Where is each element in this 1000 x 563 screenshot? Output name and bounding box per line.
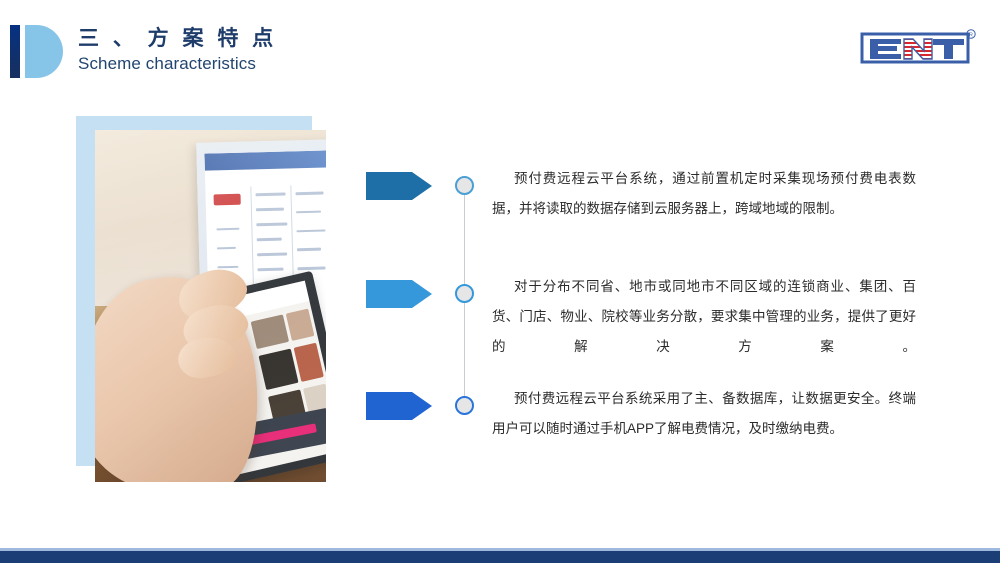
arrow-marker-2 <box>366 276 432 312</box>
photo-canvas <box>95 130 326 482</box>
slide-root: 三 、 方 案 特 点 Scheme characteristics <box>0 0 1000 563</box>
slide-header: 三 、 方 案 特 点 Scheme characteristics <box>0 0 1000 95</box>
timeline-dot-3 <box>455 396 474 415</box>
arrow-marker-1 <box>366 168 432 204</box>
feature-text-3: 预付费远程云平台系统采用了主、备数据库，让数据更安全。终端用户可以随时通过手机A… <box>492 384 916 444</box>
feature-timeline: 预付费远程云平台系统，通过前置机定时采集现场预付费电表数据，并将读取的数据存储到… <box>366 150 966 450</box>
timeline-dot-2 <box>455 284 474 303</box>
illustration-photo-block <box>76 116 326 482</box>
arrow-marker-3 <box>366 388 432 424</box>
photo-light-haze <box>95 130 326 482</box>
footer-bar <box>0 551 1000 563</box>
page-title-english: Scheme characteristics <box>78 53 277 75</box>
ent-logo: R <box>860 26 978 68</box>
timeline-dot-1 <box>455 176 474 195</box>
svg-text:R: R <box>969 33 973 39</box>
feature-text-2: 对于分布不同省、地市或同地市不同区域的连锁商业、集团、百货、门店、物业、院校等业… <box>492 272 916 362</box>
page-title-chinese: 三 、 方 案 特 点 <box>78 26 277 52</box>
header-title-group: 三 、 方 案 特 点 Scheme characteristics <box>78 26 277 75</box>
header-navy-accent-bar <box>10 25 20 78</box>
photo-hand-tablet <box>95 130 326 482</box>
feature-text-1: 预付费远程云平台系统，通过前置机定时采集现场预付费电表数据，并将读取的数据存储到… <box>492 164 916 224</box>
header-d-shape-decoration <box>25 25 63 78</box>
